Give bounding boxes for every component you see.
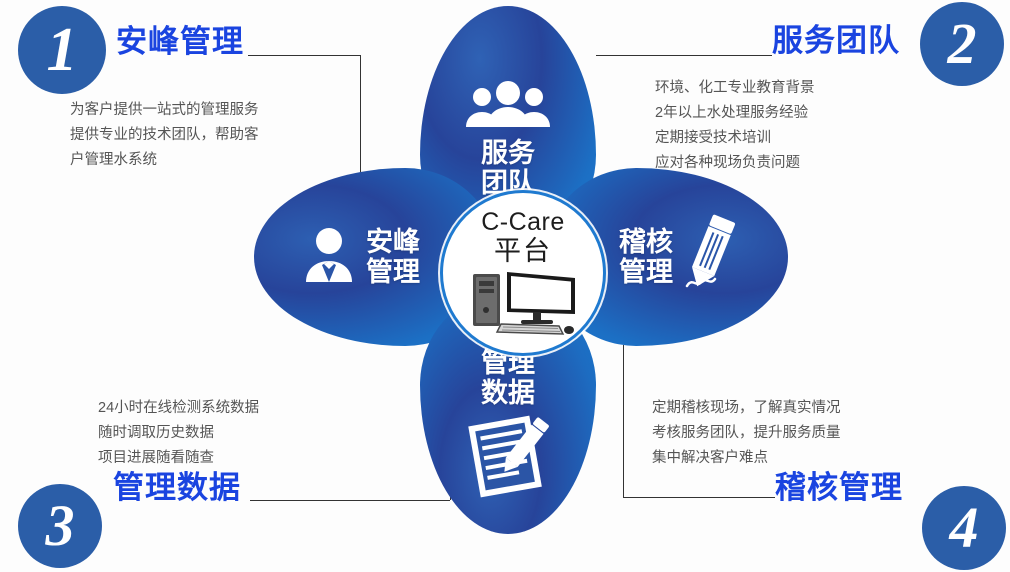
section-title-2: 服务团队	[772, 25, 900, 56]
section-body-1: 为客户提供一站式的管理服务 提供专业的技术团队，帮助客 户管理水系统	[70, 98, 259, 173]
pencil-icon	[679, 212, 743, 303]
businessman-icon	[298, 224, 360, 291]
petal-anfeng-management-label: 安峰 管理	[366, 227, 420, 287]
section-title-1: 安峰管理	[116, 26, 244, 57]
center-hub[interactable]: C-Care 平台	[440, 190, 606, 356]
infographic-canvas: 1 2 3 4 安峰管理 服务团队 管理数据 稽核管理 为客户提供一站式的管理服…	[0, 0, 1010, 572]
clipboard-pen-icon	[460, 412, 556, 505]
badge-4-label: 4	[950, 499, 979, 557]
badge-2-label: 2	[948, 15, 977, 73]
badge-3-label: 3	[46, 497, 75, 555]
section-1-line-3: 户管理水系统	[70, 148, 259, 173]
section-title-3: 管理数据	[113, 472, 241, 503]
badge-number-2: 2	[920, 2, 1004, 86]
section-title-4: 稽核管理	[775, 472, 903, 503]
badge-1-label: 1	[47, 19, 78, 81]
section-3-line-3: 项目进展随看随查	[98, 446, 259, 471]
petal-management-data-label: 管理 数据	[481, 348, 535, 408]
badge-number-3: 3	[18, 484, 102, 568]
section-3-line-1: 24小时在线检测系统数据	[98, 396, 259, 421]
badge-number-4: 4	[922, 486, 1006, 570]
section-body-3: 24小时在线检测系统数据 随时调取历史数据 项目进展随看随查	[98, 396, 259, 471]
section-3-line-2: 随时调取历史数据	[98, 421, 259, 446]
section-1-line-2: 提供专业的技术团队，帮助客	[70, 123, 259, 148]
desktop-computer-icon	[463, 266, 583, 341]
badge-number-1: 1	[18, 6, 106, 94]
people-group-icon	[462, 81, 554, 132]
section-1-line-1: 为客户提供一站式的管理服务	[70, 98, 259, 123]
hub-english-label: C-Care	[481, 208, 565, 237]
petal-service-team-label: 服务 团队	[481, 138, 535, 198]
petal-audit-management-label: 稽核 管理	[619, 227, 673, 287]
hub-chinese-label: 平台	[494, 237, 552, 265]
flower-diagram: 服务 团队 安峰 管理 稽核 管理	[258, 8, 782, 532]
